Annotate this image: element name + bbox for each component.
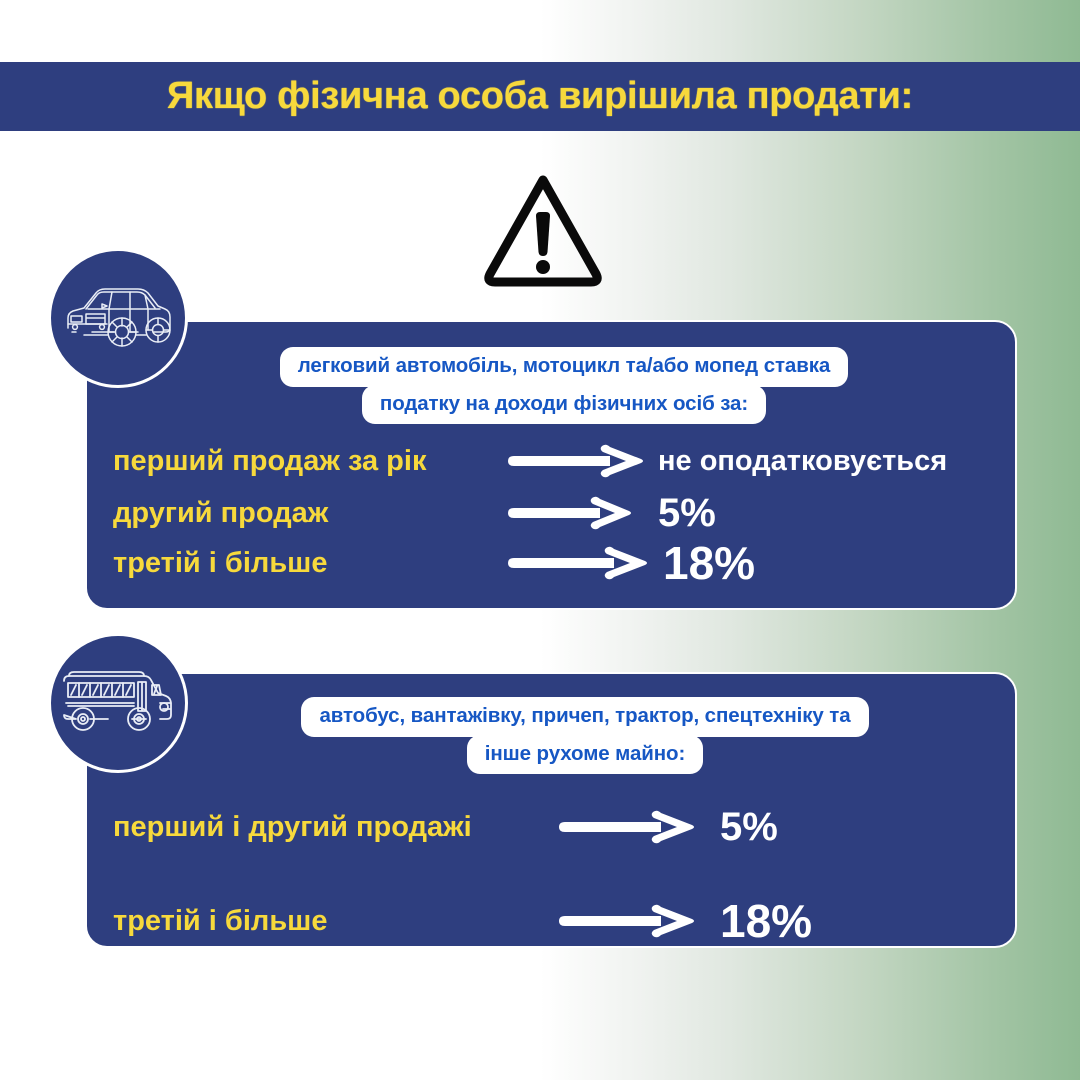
row-value: 18% (663, 540, 755, 586)
arrow-right-icon (506, 546, 650, 580)
card-passenger-vehicle-rows: перший продаж за рік не оподатковується … (113, 436, 1003, 588)
row-value: не оподатковується (658, 447, 947, 476)
header-bar: Якщо фізична особа вирішила продати: (0, 62, 1080, 131)
car-icon (62, 280, 174, 357)
row-label: третій і більше (113, 549, 327, 578)
card-commercial-vehicle-rows: перший і другий продажі 5% третій і біль… (113, 796, 1003, 952)
car-icon-circle (48, 248, 188, 388)
bus-icon-circle (48, 633, 188, 773)
infographic-canvas: Якщо фізична особа вирішила продати: (0, 0, 1080, 1080)
card-passenger-vehicle-label: легковий автомобіль, мотоцикл та/або моп… (189, 347, 939, 424)
card-commercial-vehicle-label: автобус, вантажівку, причеп, трактор, сп… (205, 697, 965, 774)
card-label-line-1: легковий автомобіль, мотоцикл та/або моп… (280, 347, 848, 387)
table-row: перший продаж за рік не оподатковується (113, 436, 1003, 486)
bus-icon (60, 663, 176, 744)
warning-triangle-icon (483, 172, 603, 290)
card-label-line-2: інше рухоме майно: (467, 735, 703, 775)
row-label: перший продаж за рік (113, 447, 426, 476)
arrow-right-icon (506, 444, 646, 478)
card-label-line-2: податку на доходи фізичних осіб за: (362, 385, 766, 425)
card-label-line-1: автобус, вантажівку, причеп, трактор, сп… (301, 697, 868, 737)
arrow-right-icon (557, 810, 697, 844)
arrow-right-icon (506, 496, 634, 530)
arrow-right-icon (557, 904, 697, 938)
row-label: другий продаж (113, 499, 328, 528)
table-row: третій і більше 18% (113, 538, 1003, 588)
row-value: 5% (720, 807, 778, 847)
page-title: Якщо фізична особа вирішила продати: (167, 75, 913, 118)
table-row: перший і другий продажі 5% (113, 796, 1003, 858)
row-value: 5% (658, 493, 716, 533)
row-label: третій і більше (113, 907, 327, 936)
row-value: 18% (720, 898, 812, 944)
table-row: другий продаж 5% (113, 488, 1003, 538)
row-label: перший і другий продажі (113, 813, 472, 842)
table-row: третій і більше 18% (113, 890, 1003, 952)
